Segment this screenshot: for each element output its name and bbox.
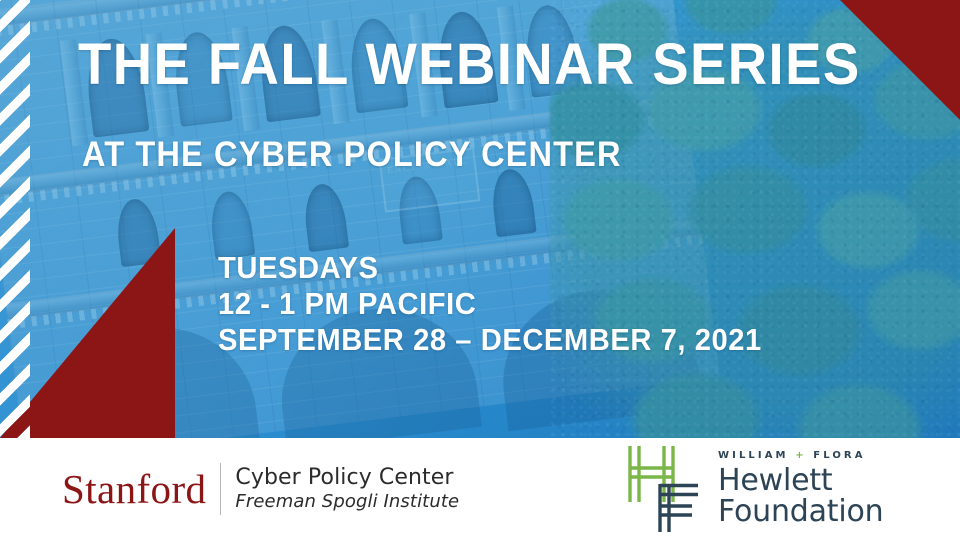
hewlett-name-line-1: Hewlett	[718, 466, 883, 497]
freeman-spogli-institute-name: Freeman Spogli Institute	[235, 491, 459, 513]
stanford-cyber-policy-center-logo: Stanford Cyber Policy Center Freeman Spo…	[62, 463, 459, 515]
event-details-block: TUESDAYS 12 - 1 PM PACIFIC SEPTEMBER 28 …	[218, 250, 797, 358]
event-day-line: TUESDAYS	[218, 250, 762, 286]
hewlett-hf-monogram-icon	[624, 444, 702, 534]
hewlett-tagline: WILLIAM + FLORA	[718, 451, 883, 461]
stanford-wordmark: Stanford	[62, 469, 220, 510]
poster-subheadline: AT THE CYBER POLICY CENTER	[82, 137, 622, 172]
stanford-unit-names: Cyber Policy Center Freeman Spogli Insti…	[221, 465, 459, 513]
hewlett-tagline-plus: +	[795, 450, 806, 461]
event-date-range-line: SEPTEMBER 28 – DECEMBER 7, 2021	[218, 322, 762, 358]
hewlett-name-line-2: Foundation	[718, 497, 883, 528]
poster-headline: THE FALL WEBINAR SERIES	[78, 36, 861, 94]
hewlett-tagline-flora: FLORA	[813, 450, 865, 461]
cyber-policy-center-name: Cyber Policy Center	[235, 465, 459, 491]
hewlett-foundation-wordmark: WILLIAM + FLORA Hewlett Foundation	[718, 451, 883, 527]
hewlett-tagline-william: WILLIAM	[718, 450, 789, 461]
hero-banner: ENCINA HALL THE FALL WEBINAR SERIES AT T…	[0, 0, 960, 438]
hero-text-block: THE FALL WEBINAR SERIES AT THE CYBER POL…	[0, 0, 960, 438]
event-time-line: 12 - 1 PM PACIFIC	[218, 286, 762, 322]
webinar-series-poster: ENCINA HALL THE FALL WEBINAR SERIES AT T…	[0, 0, 960, 540]
logo-footer-bar: Stanford Cyber Policy Center Freeman Spo…	[0, 438, 960, 540]
hewlett-foundation-logo: WILLIAM + FLORA Hewlett Foundation	[624, 444, 883, 534]
